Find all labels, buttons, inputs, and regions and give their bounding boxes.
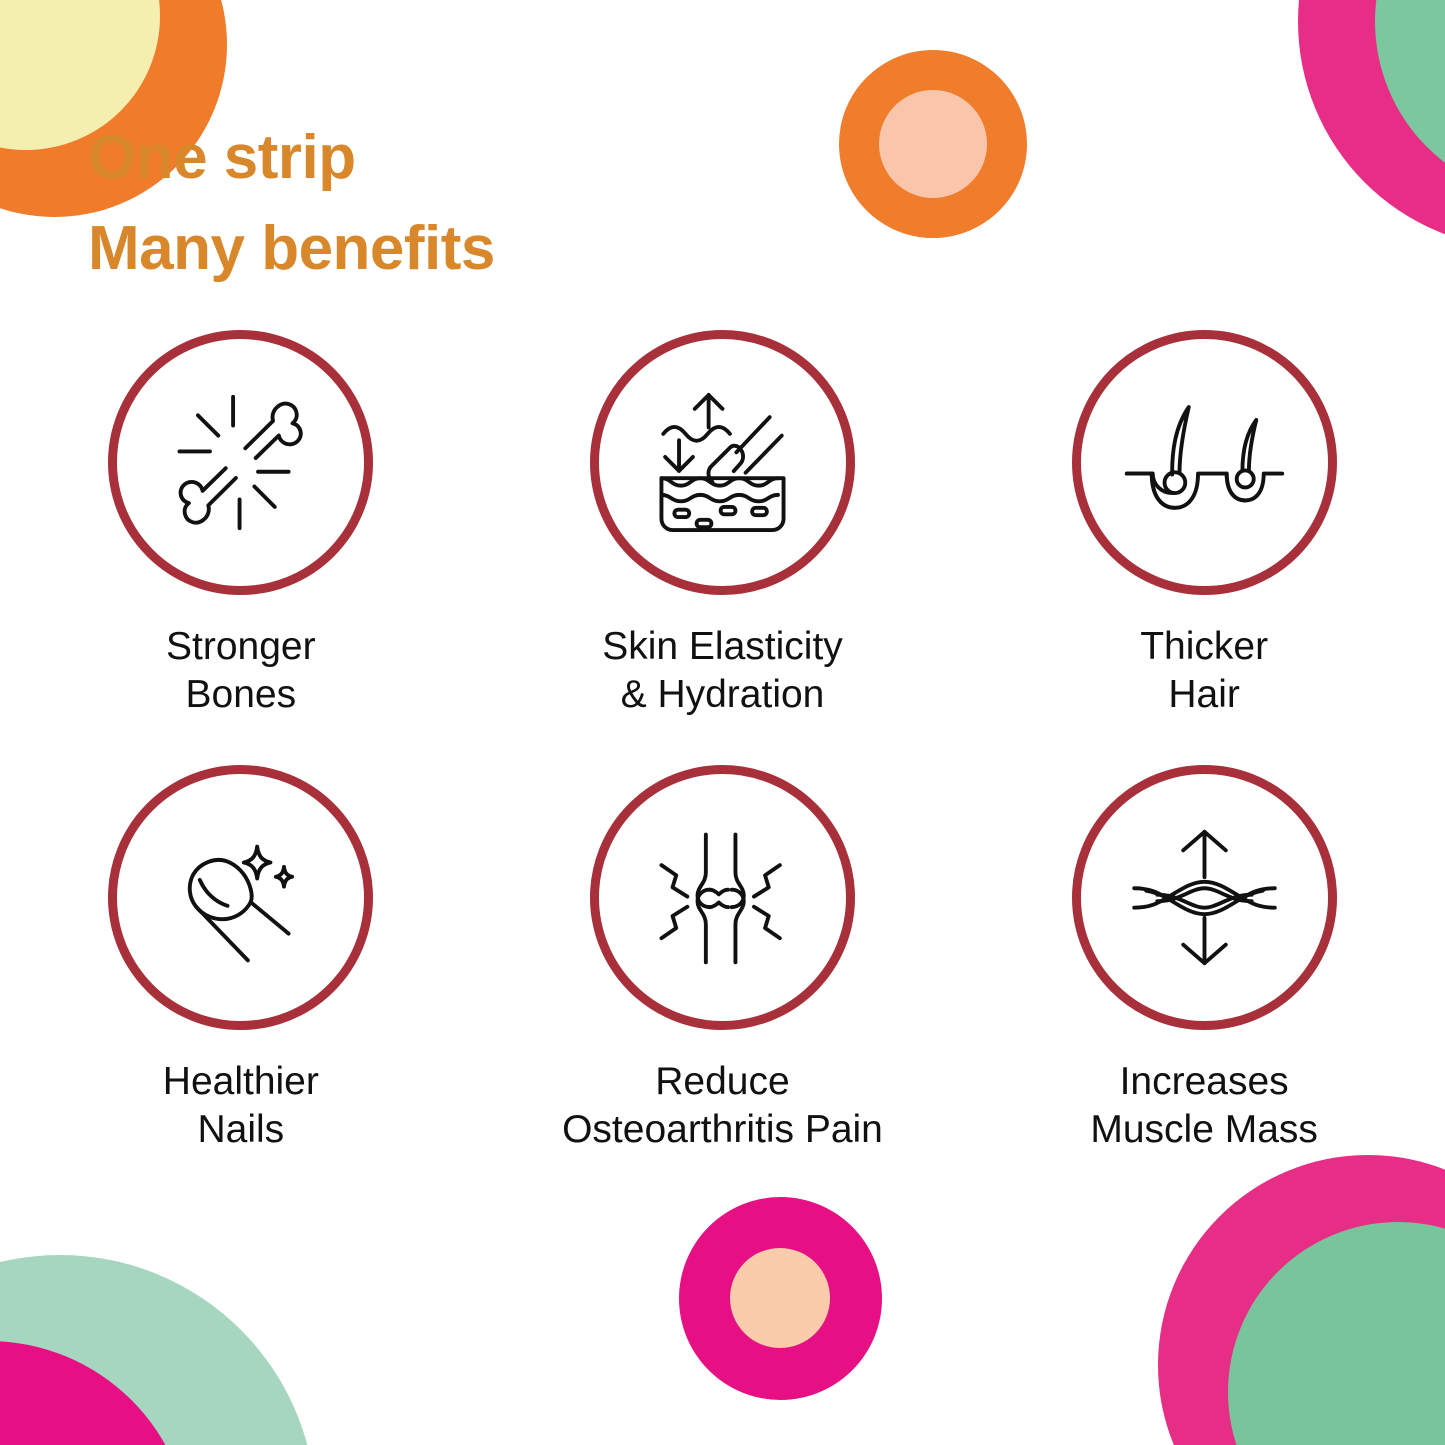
knee-joint-pain-icon [630, 805, 815, 990]
benefits-poster: One strip Many benefits Stronger B [0, 0, 1445, 1445]
bone-icon-ring [108, 330, 373, 595]
top-right-ring-inner-circle [1375, 0, 1445, 199]
muscle-expand-icon [1112, 805, 1297, 990]
benefit-label-increases-muscle-mass: Increases Muscle Mass [1090, 1058, 1318, 1153]
hair-follicle-icon-ring [1072, 330, 1337, 595]
top-center-ring-outer-circle [839, 50, 1027, 238]
benefit-item-healthier-nails: Healthier Nails [0, 765, 482, 1200]
bottom-left-ring-outer-circle [0, 1255, 316, 1445]
muscle-expand-icon-ring [1072, 765, 1337, 1030]
fingernail-sparkle-icon [148, 805, 333, 990]
benefit-item-reduce-oa-pain: Reduce Osteoarthritis Pain [482, 765, 964, 1200]
fingernail-sparkle-icon-ring [108, 765, 373, 1030]
skin-layer-finger-icon-ring [590, 330, 855, 595]
benefits-grid: Stronger Bones [0, 330, 1445, 1200]
benefit-item-skin-elasticity: Skin Elasticity & Hydration [482, 330, 964, 765]
benefit-item-thicker-hair: Thicker Hair [963, 330, 1445, 765]
benefit-label-skin-elasticity: Skin Elasticity & Hydration [602, 623, 843, 718]
benefit-item-stronger-bones: Stronger Bones [0, 330, 482, 765]
bone-icon [148, 370, 333, 555]
bottom-right-ring-inner-circle [1228, 1222, 1445, 1445]
skin-layer-finger-icon [630, 370, 815, 555]
top-center-ring-inner-circle [879, 90, 987, 198]
benefit-label-thicker-hair: Thicker Hair [1140, 623, 1268, 718]
benefit-label-reduce-oa-pain: Reduce Osteoarthritis Pain [562, 1058, 883, 1153]
benefit-label-stronger-bones: Stronger Bones [166, 623, 316, 718]
bottom-center-ring-inner-circle [730, 1248, 830, 1348]
benefit-label-healthier-nails: Healthier Nails [163, 1058, 319, 1153]
bottom-center-ring-outer-circle [679, 1197, 882, 1400]
benefit-item-increases-muscle-mass: Increases Muscle Mass [963, 765, 1445, 1200]
hair-follicle-icon [1112, 370, 1297, 555]
bottom-left-ring-inner-circle [0, 1341, 191, 1445]
page-title: One strip Many benefits [88, 112, 495, 294]
knee-joint-pain-icon-ring [590, 765, 855, 1030]
top-right-ring-outer-circle [1298, 0, 1445, 249]
